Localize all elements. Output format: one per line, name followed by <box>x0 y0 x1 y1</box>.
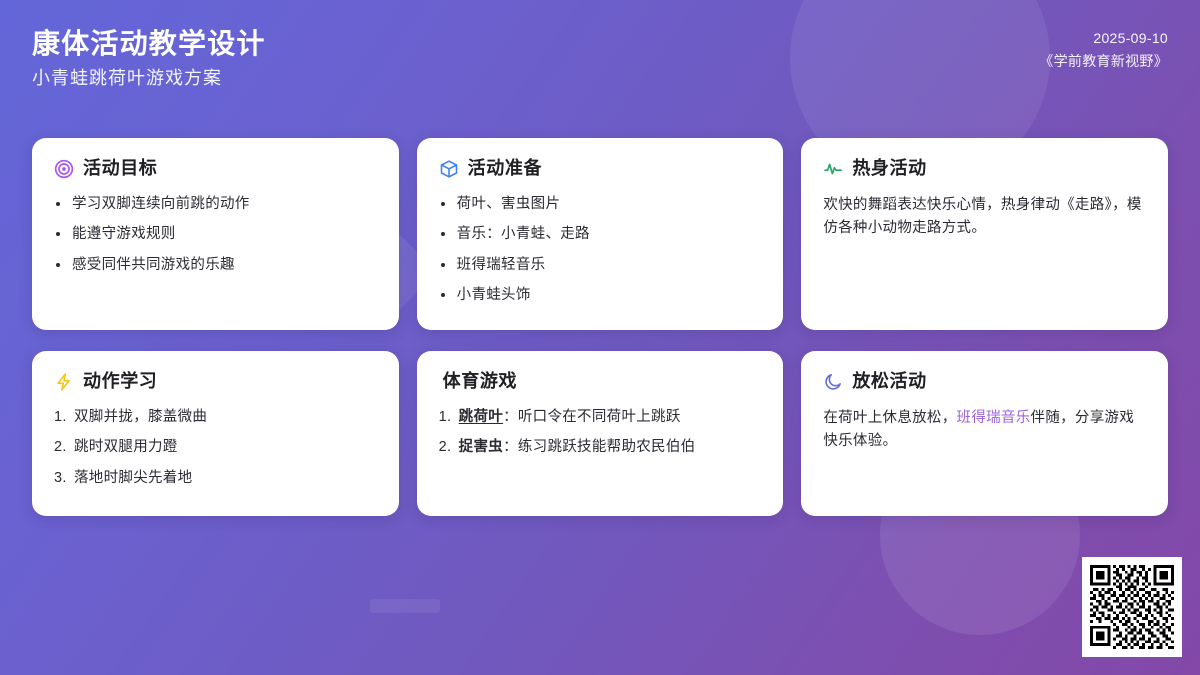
header-meta-group: 2025-09-10 《学前教育新视野》 <box>1039 26 1168 71</box>
list-item: 2. 跳时双腿用力蹬 <box>54 437 377 458</box>
moon-icon <box>823 372 843 392</box>
list-marker: 1. <box>54 407 74 428</box>
card-warmup-activity[interactable]: 热身活动 欢快的舞蹈表达快乐心情，热身律动《走路》，模仿各种小动物走路方式。 <box>801 138 1168 330</box>
card-grid: 活动目标 学习双脚连续向前跳的动作 能遵守游戏规则 感受同伴共同游戏的乐趣 活动… <box>32 138 1168 516</box>
card-sports-games[interactable]: 体育游戏 1. 跳荷叶：听口令在不同荷叶上跳跃 2. 捉害虫：练习跳跃技能帮助农… <box>417 351 784 516</box>
card-movement-learning[interactable]: 动作学习 1. 双脚并拢，膝盖微曲 2. 跳时双腿用力蹬 3. 落地时脚尖先着地 <box>32 351 399 516</box>
list-marker: 2. <box>439 437 459 458</box>
list-item-lead: 跳荷叶 <box>459 409 503 425</box>
page-subtitle: 小青蛙跳荷叶游戏方案 <box>32 67 266 90</box>
paragraph-segment: 在荷叶上休息放松， <box>823 410 956 426</box>
card-header: 热身活动 <box>823 158 1146 180</box>
decorative-bar <box>370 599 440 613</box>
card-paragraph: 欢快的舞蹈表达快乐心情，热身律动《走路》，模仿各种小动物走路方式。 <box>823 194 1146 241</box>
list-item-lead: 捉害虫 <box>459 439 503 455</box>
list-item-rest: ：听口令在不同荷叶上跳跃 <box>503 409 681 425</box>
card-numbered-list: 1. 双脚并拢，膝盖微曲 2. 跳时双腿用力蹬 3. 落地时脚尖先着地 <box>54 407 377 489</box>
list-item: 1. 跳荷叶：听口令在不同荷叶上跳跃 <box>439 407 762 428</box>
card-activity-goals[interactable]: 活动目标 学习双脚连续向前跳的动作 能遵守游戏规则 感受同伴共同游戏的乐趣 <box>32 138 399 330</box>
qr-code-image <box>1090 565 1174 649</box>
list-marker: 2. <box>54 437 74 458</box>
list-item: 小青蛙头饰 <box>439 285 762 306</box>
card-title: 放松活动 <box>852 371 926 393</box>
card-relaxation-activity[interactable]: 放松活动 在荷叶上休息放松，班得瑞音乐伴随，分享游戏快乐体验。 <box>801 351 1168 516</box>
list-item-text: 双脚并拢，膝盖微曲 <box>74 407 207 428</box>
card-activity-preparation[interactable]: 活动准备 荷叶、害虫图片 音乐：小青蛙、走路 班得瑞轻音乐 小青蛙头饰 <box>417 138 784 330</box>
list-item: 班得瑞轻音乐 <box>439 255 762 276</box>
list-marker: 3. <box>54 468 74 489</box>
card-title: 活动准备 <box>468 158 542 180</box>
list-item-text: 捉害虫：练习跳跃技能帮助农民伯伯 <box>459 437 696 458</box>
card-title: 体育游戏 <box>443 371 517 393</box>
lightning-bolt-icon <box>54 372 74 392</box>
list-item-rest: ：练习跳跃技能帮助农民伯伯 <box>503 439 695 455</box>
meta-source: 《学前教育新视野》 <box>1039 51 1168 71</box>
card-header: 动作学习 <box>54 371 377 393</box>
package-icon <box>439 159 459 179</box>
card-header: 活动目标 <box>54 158 377 180</box>
card-bullet-list: 学习双脚连续向前跳的动作 能遵守游戏规则 感受同伴共同游戏的乐趣 <box>54 194 377 276</box>
card-header: 活动准备 <box>439 158 762 180</box>
paragraph-highlight: 班得瑞音乐 <box>957 410 1031 426</box>
list-item: 音乐：小青蛙、走路 <box>439 224 762 245</box>
header-title-group: 康体活动教学设计 小青蛙跳荷叶游戏方案 <box>32 26 266 90</box>
activity-pulse-icon <box>823 159 843 179</box>
card-bullet-list: 荷叶、害虫图片 音乐：小青蛙、走路 班得瑞轻音乐 小青蛙头饰 <box>439 194 762 306</box>
list-marker: 1. <box>439 407 459 428</box>
meta-date: 2025-09-10 <box>1039 30 1168 46</box>
qr-code[interactable] <box>1082 557 1182 657</box>
slide-root: 康体活动教学设计 小青蛙跳荷叶游戏方案 2025-09-10 《学前教育新视野》… <box>0 0 1200 675</box>
list-item: 能遵守游戏规则 <box>54 224 377 245</box>
card-title: 热身活动 <box>852 158 926 180</box>
list-item: 1. 双脚并拢，膝盖微曲 <box>54 407 377 428</box>
list-item: 学习双脚连续向前跳的动作 <box>54 194 377 215</box>
list-item-text: 跳荷叶：听口令在不同荷叶上跳跃 <box>459 407 681 428</box>
card-title: 动作学习 <box>83 371 157 393</box>
card-paragraph: 在荷叶上休息放松，班得瑞音乐伴随，分享游戏快乐体验。 <box>823 407 1146 454</box>
card-header: 体育游戏 <box>439 371 762 393</box>
slide-header: 康体活动教学设计 小青蛙跳荷叶游戏方案 2025-09-10 《学前教育新视野》 <box>0 0 1200 120</box>
page-title: 康体活动教学设计 <box>32 26 266 61</box>
list-item: 3. 落地时脚尖先着地 <box>54 468 377 489</box>
list-item-text: 跳时双腿用力蹬 <box>74 437 178 458</box>
list-item: 2. 捉害虫：练习跳跃技能帮助农民伯伯 <box>439 437 762 458</box>
card-header: 放松活动 <box>823 371 1146 393</box>
card-title: 活动目标 <box>83 158 157 180</box>
target-icon <box>54 159 74 179</box>
card-numbered-list: 1. 跳荷叶：听口令在不同荷叶上跳跃 2. 捉害虫：练习跳跃技能帮助农民伯伯 <box>439 407 762 458</box>
list-item: 感受同伴共同游戏的乐趣 <box>54 255 377 276</box>
list-item-text: 落地时脚尖先着地 <box>74 468 192 489</box>
list-item: 荷叶、害虫图片 <box>439 194 762 215</box>
